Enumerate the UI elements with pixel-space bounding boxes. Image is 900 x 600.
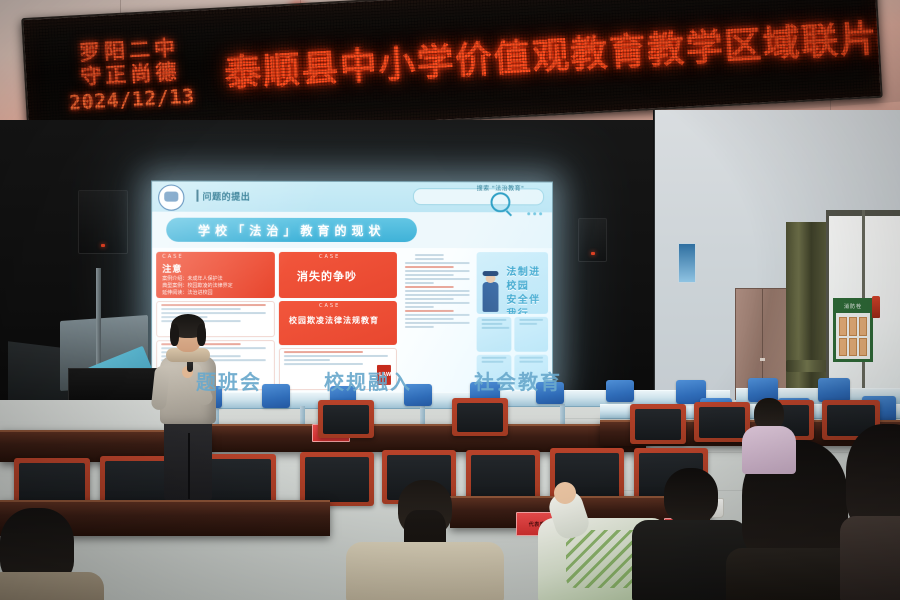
fire-extinguisher <box>872 296 880 318</box>
slide-card: CASE 注意 案例介绍：未成年人保护法 典型案例：校园欺凌的法律界定 延伸阅读… <box>156 252 275 298</box>
student-chair[interactable] <box>818 378 850 402</box>
classroom-photo: 罗阳二中 守正尚德 2024/12/13 泰顺县中小学价值观教育教学区域联片研讨… <box>0 0 900 600</box>
school-logo-icon <box>158 185 184 211</box>
curtain-tieback <box>786 360 828 372</box>
slide-section-label: 问题的提出 <box>203 189 251 202</box>
slide-card-tag: CASE <box>162 254 183 260</box>
slide-right-column: 法制进校园 安全伴我行 <box>477 252 548 390</box>
led-headline: 泰顺县中小学价值观教育教学区域联片研讨活动 <box>223 0 883 97</box>
search-icon <box>491 192 511 212</box>
audience-person <box>350 480 500 600</box>
fire-hydrant-notice-board: 消防栓 <box>833 298 873 362</box>
conference-chair[interactable] <box>318 400 374 438</box>
slide-blue-card <box>477 317 511 352</box>
student-chair[interactable] <box>262 384 290 408</box>
slide-blue-hero-card: 法制进校园 安全伴我行 <box>477 252 548 314</box>
slide-law-label: LAW <box>379 372 391 378</box>
slide-card-line: 延伸阅读：法治进校园 <box>162 290 212 298</box>
wall-speaker-left <box>78 190 128 254</box>
audience-person <box>742 398 796 468</box>
slide-hero-line-1: 法制进校园 <box>506 266 548 294</box>
slide-card-tag: CASE <box>319 303 340 309</box>
student-chair[interactable] <box>404 384 432 406</box>
wall-speaker-right <box>578 218 607 262</box>
student-chair[interactable] <box>536 382 564 404</box>
slide-section-label-wrap: 问题的提出 <box>196 188 250 204</box>
slide-search-text: 搜索 "法治教育" <box>477 183 525 192</box>
window-curtain[interactable] <box>786 222 828 402</box>
slide-card-headline: 注意 <box>162 262 182 275</box>
notice-board-title: 消防栓 <box>836 301 870 313</box>
slide-card-tag: CASE <box>319 254 340 260</box>
slide-hero-line-2: 安全伴我行 <box>506 294 548 314</box>
slide-title: 学校「法治」教育的现状 <box>198 221 386 238</box>
presenter <box>152 318 224 500</box>
student-chair[interactable] <box>606 380 634 402</box>
wall-poster <box>678 243 696 283</box>
audience-hand <box>554 482 576 504</box>
slide-blue-card <box>514 317 548 352</box>
slide-card-headline: 校园欺凌法律法规教育 <box>289 315 379 327</box>
slide-text-column <box>401 252 473 390</box>
policeman-illustration <box>483 282 499 312</box>
audience-person <box>846 424 900 600</box>
slide-title-pill: 学校「法治」教育的现状 <box>166 218 417 242</box>
conference-chair[interactable] <box>630 404 686 444</box>
slide-card-headline: 消失的争吵 <box>297 268 357 284</box>
slide-topbar: 问题的提出 搜索 "法治教育" <box>152 182 552 213</box>
conference-chair[interactable] <box>452 398 508 436</box>
desk-leg <box>560 404 565 426</box>
slide-law-thumb: LAW <box>377 365 391 385</box>
slide-dots <box>527 212 542 215</box>
led-school-line-2: 守正尚德 <box>80 60 181 87</box>
slide-card: CASE 校园欺凌法律法规教育 <box>279 301 397 345</box>
slide-white-card: LAW <box>279 348 397 390</box>
audience-person <box>0 508 100 600</box>
slide-second-column: CASE 消失的争吵 CASE 校园欺凌法律法规教育 LAW <box>279 252 397 390</box>
slide-card: CASE 消失的争吵 <box>279 252 397 298</box>
